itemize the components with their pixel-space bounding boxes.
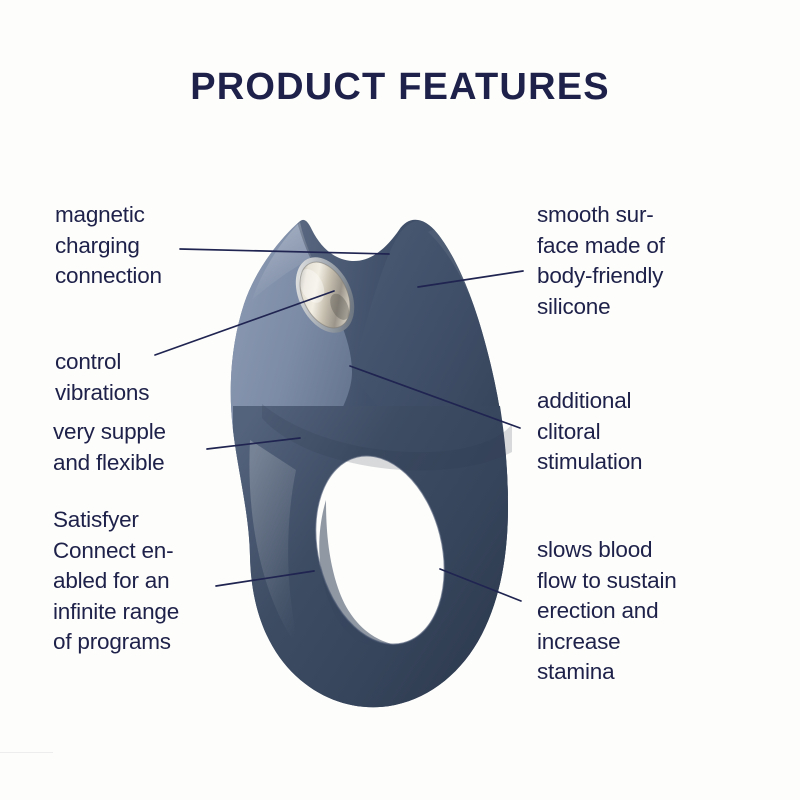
callout-very-supple-and-flexible: very supple and flexible — [53, 417, 268, 478]
callout-smooth-surface-silicone: smooth sur- face made of body-friendly s… — [537, 200, 772, 322]
callout-control-vibrations: control vibrations — [55, 347, 270, 408]
product-features-infographic: PRODUCT FEATURES — [0, 0, 800, 800]
callout-magnetic-charging-connection: magnetic charging connection — [55, 200, 270, 292]
bottom-rule-divider — [0, 752, 53, 753]
callout-slows-blood-flow: slows blood flow to sustain erection and… — [537, 535, 772, 688]
callout-satisfyer-connect-enabled: Satisfyer Connect en- abled for an infin… — [53, 505, 268, 658]
callout-additional-clitoral-stimulation: additional clitoral stimulation — [537, 386, 772, 478]
product-body — [229, 200, 540, 708]
